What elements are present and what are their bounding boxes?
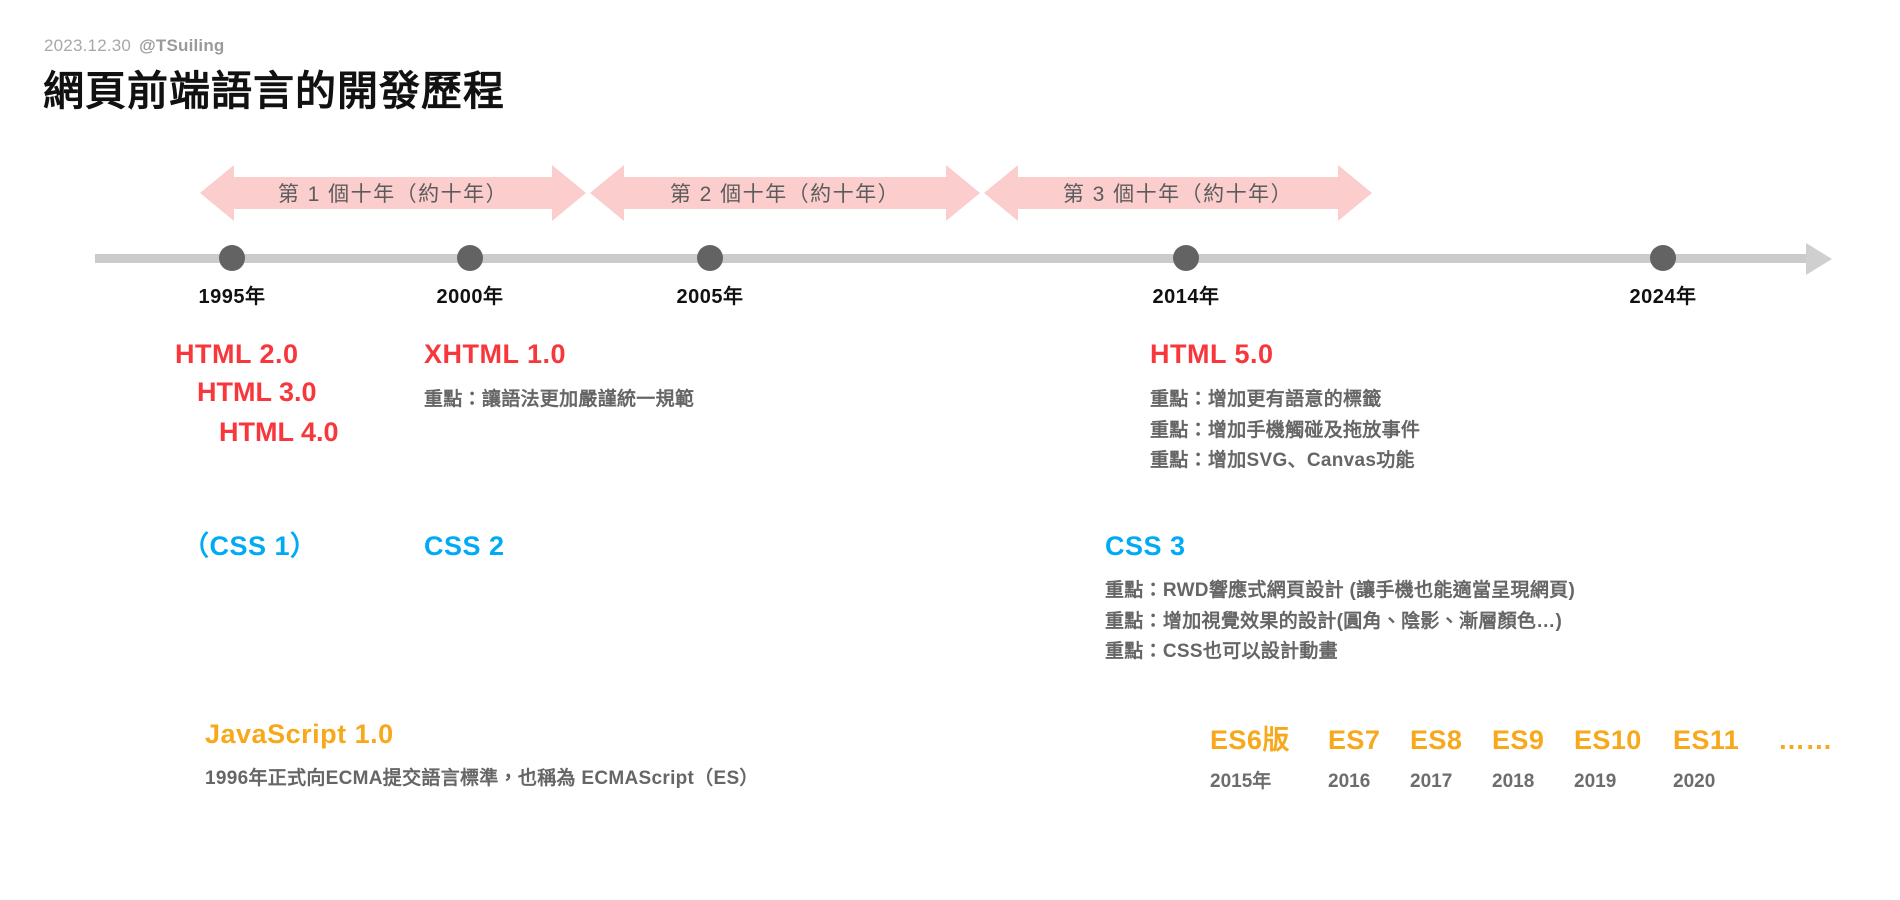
entry-css-3: CSS 3 重點：RWD響應式網頁設計 (讓手機也能適當呈現網頁) 重點：增加視…	[1105, 530, 1575, 668]
timeline-dot-2014	[1173, 245, 1199, 271]
year-label-2005: 2005年	[677, 280, 744, 309]
ecmascript-year-2018: 2018	[1492, 771, 1574, 793]
ecmascript-year-list: 2015年 2016 2017 2018 2019 2020	[1210, 766, 1833, 793]
timeline-dot-2005	[697, 245, 723, 271]
decade-band-3-label: 第 3 個十年（約十年）	[1063, 178, 1293, 208]
entry-xhtml-1-desc: 重點：讓語法更加嚴謹統一規範	[424, 385, 694, 416]
ecmascript-year-2017: 2017	[1410, 771, 1492, 793]
entry-css-2-title: CSS 2	[424, 530, 505, 564]
entry-javascript-desc: 1996年正式向ECMA提交語言標準，也稱為 ECMAScript（ES）	[205, 764, 759, 795]
entry-css-3-desc-3: 重點：CSS也可以設計動畫	[1105, 637, 1575, 668]
entry-css-3-title: CSS 3	[1105, 530, 1575, 564]
entry-javascript-title: JavaScript 1.0	[205, 718, 759, 752]
ecmascript-version-ellipsis: ……	[1778, 725, 1833, 756]
timeline-dot-1995	[219, 245, 245, 271]
ecmascript-version-list: ES6版 ES7 ES8 ES9 ES10 ES11 ……	[1210, 718, 1833, 757]
entry-html-3-title: HTML 3.0	[197, 372, 339, 413]
decade-band-2-label: 第 2 個十年（約十年）	[670, 178, 900, 208]
timeline-arrow-icon	[1806, 243, 1832, 275]
decade-band-3: 第 3 個十年（約十年）	[984, 165, 1372, 221]
entry-xhtml-1: XHTML 1.0 重點：讓語法更加嚴謹統一規範	[424, 338, 694, 416]
entry-css-3-desc-2: 重點：增加視覺效果的設計(圓角、陰影、漸層顏色…)	[1105, 607, 1575, 638]
page-title: 網頁前端語言的開發歷程	[43, 57, 505, 117]
decade-band-2: 第 2 個十年（約十年）	[590, 165, 980, 221]
entry-css-1: （CSS 1）	[182, 530, 318, 564]
author-handle: @TSuiling	[139, 36, 224, 55]
decade-band-1: 第 1 個十年（約十年）	[200, 165, 586, 221]
ecmascript-version-es6: ES6版	[1210, 718, 1328, 757]
year-label-2000: 2000年	[437, 280, 504, 309]
year-label-2014: 2014年	[1153, 280, 1220, 309]
ecmascript-version-es11: ES11	[1673, 725, 1778, 756]
entry-xhtml-1-title: XHTML 1.0	[424, 338, 694, 372]
entry-html-5-title: HTML 5.0	[1150, 338, 1420, 372]
entry-html-4-title: HTML 4.0	[219, 412, 339, 453]
ecmascript-year-2020: 2020	[1673, 771, 1715, 793]
decade-band-1-label: 第 1 個十年（約十年）	[278, 178, 508, 208]
entry-javascript: JavaScript 1.0 1996年正式向ECMA提交語言標準，也稱為 EC…	[205, 718, 759, 795]
year-label-1995: 1995年	[199, 280, 266, 309]
entry-html-5: HTML 5.0 重點：增加更有語意的標籤 重點：增加手機觸碰及拖放事件 重點：…	[1150, 338, 1420, 477]
entry-css-2: CSS 2	[424, 530, 505, 564]
entry-html-2: HTML 2.0 HTML 3.0 HTML 4.0	[175, 338, 339, 453]
timeline-axis	[95, 254, 1809, 263]
entry-ecmascript: ES6版 ES7 ES8 ES9 ES10 ES11 …… 2015年 2016…	[1210, 718, 1833, 793]
ecmascript-year-2016: 2016	[1328, 771, 1410, 793]
timeline-dot-2024	[1650, 245, 1676, 271]
ecmascript-year-2015: 2015年	[1210, 766, 1328, 793]
entry-html-5-desc-1: 重點：增加更有語意的標籤	[1150, 385, 1420, 416]
ecmascript-version-es8: ES8	[1410, 725, 1492, 756]
entry-css-1-title: （CSS 1）	[182, 530, 318, 564]
header-meta: 2023.12.30@TSuiling	[44, 36, 225, 56]
ecmascript-year-2019: 2019	[1574, 771, 1673, 793]
year-label-2024: 2024年	[1630, 280, 1697, 309]
entry-html-2-title: HTML 2.0	[175, 338, 339, 372]
entry-html-5-desc-2: 重點：增加手機觸碰及拖放事件	[1150, 416, 1420, 447]
ecmascript-version-es10: ES10	[1574, 725, 1673, 756]
entry-css-3-desc-1: 重點：RWD響應式網頁設計 (讓手機也能適當呈現網頁)	[1105, 576, 1575, 607]
ecmascript-version-es9: ES9	[1492, 725, 1574, 756]
publish-date: 2023.12.30	[44, 36, 131, 55]
ecmascript-version-es7: ES7	[1328, 725, 1410, 756]
timeline-dot-2000	[457, 245, 483, 271]
entry-html-5-desc-3: 重點：增加SVG、Canvas功能	[1150, 446, 1420, 477]
